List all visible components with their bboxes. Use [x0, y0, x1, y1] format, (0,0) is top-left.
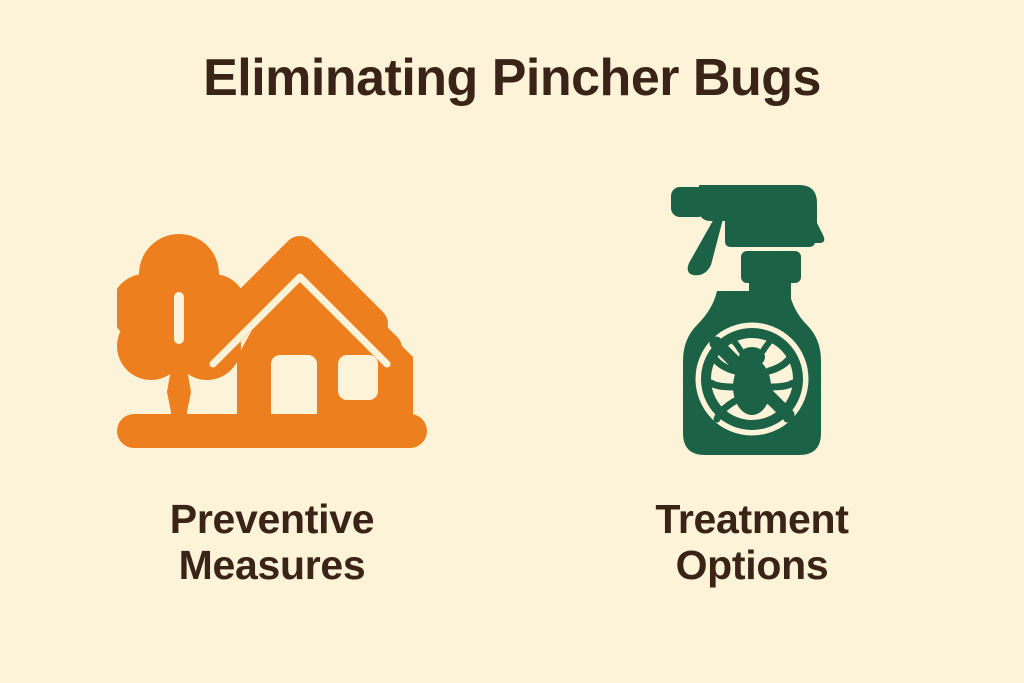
house-with-tree-glyph	[117, 196, 427, 454]
card-label-line-2: Options	[655, 543, 848, 589]
infographic-canvas: Eliminating Pincher Bugs	[0, 0, 1024, 683]
spray-bottle-no-bug-icon	[592, 175, 912, 475]
page-title: Eliminating Pincher Bugs	[0, 52, 1024, 104]
card-label-preventive: Preventive Measures	[170, 497, 374, 589]
card-preventive-measures[interactable]: Preventive Measures	[72, 175, 472, 589]
card-label-line-1: Preventive	[170, 496, 374, 542]
cards-row: Preventive Measures	[0, 175, 1024, 589]
card-treatment-options[interactable]: Treatment Options	[552, 175, 952, 589]
card-label-treatment: Treatment Options	[655, 497, 848, 589]
card-label-line-2: Measures	[170, 543, 374, 589]
card-label-line-1: Treatment	[655, 496, 848, 542]
house-with-tree-icon	[112, 175, 432, 475]
spray-bottle-glyph	[667, 179, 837, 471]
